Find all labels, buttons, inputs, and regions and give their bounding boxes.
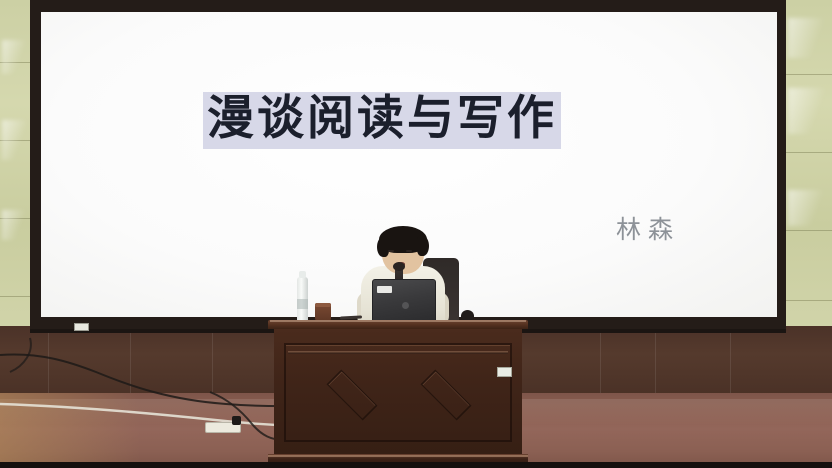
- laptop: [372, 279, 436, 323]
- water-bottle: [297, 277, 308, 323]
- screen-frame-label: [74, 323, 89, 331]
- power-strip: [205, 422, 241, 433]
- floor-light-patch: [0, 393, 140, 468]
- wooden-podium: [268, 320, 528, 468]
- podium-tag: [497, 367, 512, 377]
- frame-bottom-bar: [0, 462, 832, 468]
- lecture-hall-scene: 漫谈阅读与写作 林森: [0, 0, 832, 468]
- hair: [379, 226, 427, 253]
- slide-author: 林森: [616, 210, 680, 246]
- slide-title: 漫谈阅读与写作: [203, 92, 561, 149]
